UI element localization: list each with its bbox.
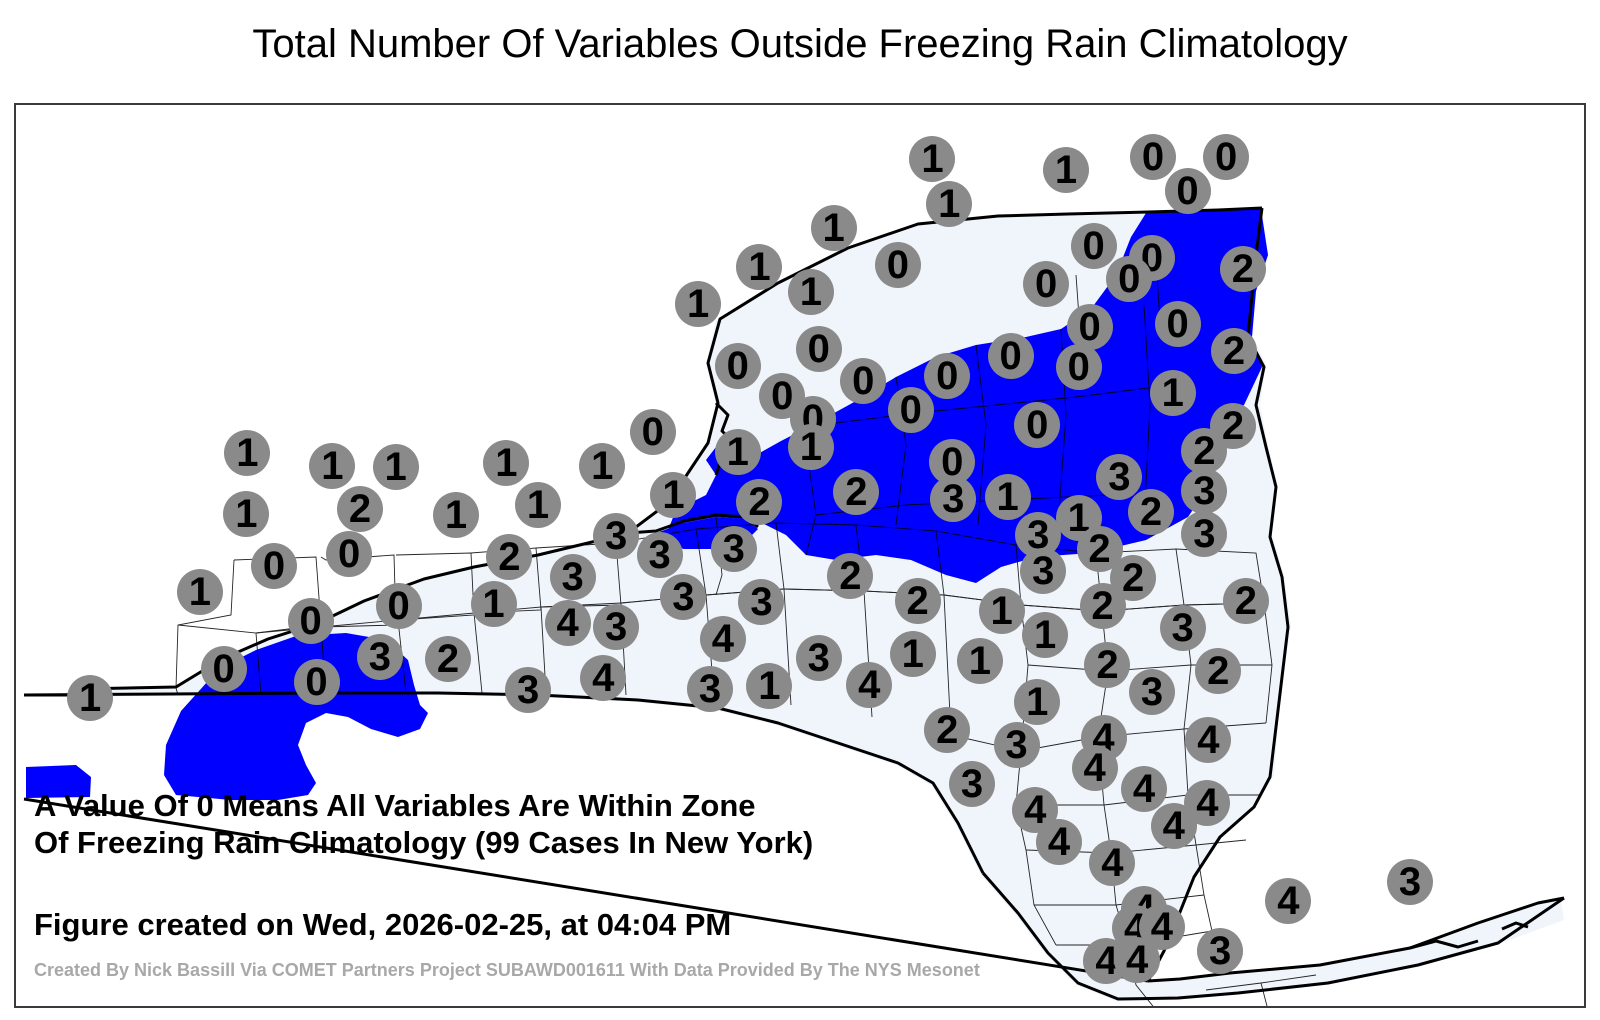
station-marker-value: 1 [890, 631, 936, 677]
station-marker: 1 [433, 492, 479, 538]
station-marker-value: 4 [1151, 803, 1197, 849]
station-marker-value: 0 [840, 358, 886, 404]
legend-note-line1: A Value Of 0 Means All Variables Are Wit… [34, 788, 756, 823]
station-marker: 0 [1056, 344, 1102, 390]
station-marker: 0 [715, 343, 761, 389]
station-marker-value: 2 [736, 479, 782, 525]
station-marker-value: 0 [326, 531, 372, 577]
station-marker-value: 1 [1043, 147, 1089, 193]
station-marker: 2 [1220, 246, 1266, 292]
station-marker-value: 3 [660, 574, 706, 620]
station-marker-value: 1 [1014, 679, 1060, 725]
station-marker-value: 2 [1220, 246, 1266, 292]
station-marker-value: 4 [1265, 878, 1311, 924]
station-marker-value: 2 [895, 578, 941, 624]
station-marker-value: 1 [650, 472, 696, 518]
legend-note: A Value Of 0 Means All Variables Are Wit… [34, 788, 813, 861]
station-marker-value: 0 [1023, 261, 1069, 307]
station-marker: 1 [926, 181, 972, 227]
station-marker-value: 1 [788, 424, 834, 470]
station-marker-value: 1 [177, 569, 223, 615]
station-marker-value: 0 [1155, 301, 1201, 347]
station-marker: 3 [1197, 928, 1243, 974]
station-marker-value: 1 [373, 444, 419, 490]
station-marker-value: 3 [949, 761, 995, 807]
station-marker: 0 [376, 583, 422, 629]
station-marker-value: 1 [746, 663, 792, 709]
station-marker: 1 [471, 581, 517, 627]
station-marker: 3 [357, 634, 403, 680]
station-marker: 3 [593, 604, 639, 650]
station-marker-value: 1 [433, 492, 479, 538]
station-marker-value: 4 [1072, 745, 1118, 791]
station-marker-value: 3 [994, 722, 1040, 768]
station-marker-value: 0 [294, 659, 340, 705]
station-marker: 0 [888, 387, 934, 433]
station-marker: 4 [580, 655, 626, 701]
station-marker-value: 3 [1181, 468, 1227, 514]
station-marker-value: 0 [630, 409, 676, 455]
station-marker: 3 [550, 554, 596, 600]
station-marker: 1 [1043, 147, 1089, 193]
station-marker-value: 1 [909, 136, 955, 182]
station-marker-value: 2 [1211, 328, 1257, 374]
station-marker: 0 [796, 326, 842, 372]
station-marker-value: 1 [67, 675, 113, 721]
station-marker-value: 0 [715, 343, 761, 389]
station-marker-value: 3 [1129, 669, 1175, 715]
station-marker-value: 2 [1195, 648, 1241, 694]
station-marker: 2 [1080, 583, 1126, 629]
station-marker: 1 [979, 588, 1025, 634]
legend-note-line2: Of Freezing Rain Climatology (99 Cases I… [34, 825, 813, 860]
station-marker: 4 [1114, 937, 1160, 983]
station-marker-value: 2 [924, 707, 970, 753]
station-marker-value: 1 [736, 244, 782, 290]
station-marker: 3 [1181, 511, 1227, 557]
station-marker: 4 [1151, 803, 1197, 849]
station-marker-value: 1 [675, 281, 721, 327]
nys-land-fill [24, 209, 1564, 1001]
station-marker: 0 [251, 543, 297, 589]
station-marker: 3 [930, 476, 976, 522]
station-marker-value: 2 [827, 553, 873, 599]
station-marker: 0 [988, 333, 1034, 379]
station-marker: 1 [746, 663, 792, 709]
station-marker: 1 [373, 444, 419, 490]
station-marker: 0 [840, 358, 886, 404]
station-marker: 4 [1089, 840, 1135, 886]
station-marker-value: 2 [1223, 578, 1269, 624]
station-marker: 2 [924, 707, 970, 753]
station-marker: 3 [660, 574, 706, 620]
page-title: Total Number Of Variables Outside Freezi… [0, 22, 1600, 67]
station-marker: 2 [1128, 489, 1174, 535]
station-marker-value: 3 [593, 513, 639, 559]
station-marker: 1 [177, 569, 223, 615]
station-marker-value: 4 [1036, 819, 1082, 865]
station-marker-value: 2 [425, 636, 471, 682]
station-marker-value: 1 [1150, 370, 1196, 416]
station-marker-value: 2 [486, 534, 532, 580]
station-marker: 2 [1084, 642, 1130, 688]
station-marker: 4 [700, 616, 746, 662]
station-marker-value: 0 [1056, 344, 1102, 390]
station-marker-value: 3 [796, 635, 842, 681]
station-marker-value: 4 [700, 616, 746, 662]
map-frame: 1100101001000211000000200010000211021111… [14, 103, 1586, 1008]
station-marker: 1 [811, 205, 857, 251]
station-marker-value: 0 [251, 543, 297, 589]
station-marker: 3 [1181, 468, 1227, 514]
station-marker: 1 [309, 443, 355, 489]
station-marker: 1 [715, 429, 761, 475]
station-marker: 4 [545, 600, 591, 646]
station-marker: 3 [1129, 669, 1175, 715]
station-marker-value: 1 [788, 269, 834, 315]
station-marker-value: 0 [796, 326, 842, 372]
station-marker: 3 [505, 667, 551, 713]
station-marker-value: 2 [337, 486, 383, 532]
station-marker-value: 1 [926, 181, 972, 227]
credit-line: Created By Nick Bassill Via COMET Partne… [34, 960, 980, 981]
station-marker-value: 1 [811, 205, 857, 251]
station-marker: 1 [1022, 612, 1068, 658]
station-marker-value: 3 [593, 604, 639, 650]
station-marker: 1 [788, 269, 834, 315]
station-marker: 4 [846, 662, 892, 708]
station-marker-value: 1 [1022, 612, 1068, 658]
station-marker: 1 [1150, 370, 1196, 416]
station-marker-value: 1 [979, 588, 1025, 634]
station-marker: 2 [1211, 328, 1257, 374]
station-marker-value: 0 [888, 387, 934, 433]
station-marker-value: 4 [1185, 717, 1231, 763]
station-marker: 2 [833, 469, 879, 515]
station-marker: 4 [1072, 745, 1118, 791]
station-marker-value: 3 [505, 667, 551, 713]
station-marker: 2 [486, 534, 532, 580]
station-marker-value: 1 [224, 430, 270, 476]
station-marker-value: 2 [1084, 642, 1130, 688]
station-marker-value: 3 [711, 526, 757, 572]
station-marker: 0 [288, 598, 334, 644]
station-marker: 0 [201, 646, 247, 692]
station-marker-value: 3 [1181, 511, 1227, 557]
station-marker: 1 [788, 424, 834, 470]
station-marker: 0 [1014, 402, 1060, 448]
station-marker: 2 [425, 636, 471, 682]
station-marker: 3 [994, 722, 1040, 768]
station-marker-value: 3 [357, 634, 403, 680]
station-marker-value: 4 [846, 662, 892, 708]
station-marker-value: 3 [1197, 928, 1243, 974]
station-marker: 2 [1223, 578, 1269, 624]
station-marker: 2 [736, 479, 782, 525]
station-marker: 4 [1185, 717, 1231, 763]
station-marker-value: 0 [1014, 402, 1060, 448]
station-marker-value: 4 [545, 600, 591, 646]
station-marker-value: 4 [580, 655, 626, 701]
station-marker-value: 1 [579, 443, 625, 489]
station-marker-value: 3 [1160, 605, 1206, 651]
station-marker-value: 4 [1089, 840, 1135, 886]
station-marker-value: 3 [1387, 859, 1433, 905]
station-marker-value: 0 [201, 646, 247, 692]
station-marker: 3 [1387, 859, 1433, 905]
station-marker: 1 [67, 675, 113, 721]
station-marker-value: 3 [930, 476, 976, 522]
station-marker: 1 [957, 638, 1003, 684]
station-marker-value: 2 [1128, 489, 1174, 535]
station-marker-value: 0 [988, 333, 1034, 379]
station-marker-value: 1 [715, 429, 761, 475]
station-marker: 4 [1265, 878, 1311, 924]
station-marker: 1 [579, 443, 625, 489]
station-marker-value: 3 [687, 666, 733, 712]
station-marker: 0 [875, 242, 921, 288]
station-marker: 1 [736, 244, 782, 290]
station-marker-value: 0 [288, 598, 334, 644]
station-marker: 3 [1020, 548, 1066, 594]
station-marker: 0 [326, 531, 372, 577]
figure-timestamp: Figure created on Wed, 2026-02-25, at 04… [34, 907, 731, 944]
station-marker-value: 3 [1020, 548, 1066, 594]
station-marker: 1 [483, 440, 529, 486]
station-marker: 3 [949, 761, 995, 807]
station-marker: 2 [895, 578, 941, 624]
station-marker: 0 [1023, 261, 1069, 307]
station-marker: 3 [687, 666, 733, 712]
station-marker: 1 [1014, 679, 1060, 725]
station-marker-value: 3 [637, 532, 683, 578]
station-marker: 0 [1155, 301, 1201, 347]
station-marker-value: 0 [376, 583, 422, 629]
station-marker: 2 [827, 553, 873, 599]
station-marker-value: 4 [1114, 937, 1160, 983]
station-marker-value: 0 [1165, 168, 1211, 214]
station-marker: 0 [1165, 168, 1211, 214]
station-marker: 3 [593, 513, 639, 559]
station-marker: 1 [515, 482, 561, 528]
station-marker: 1 [890, 631, 936, 677]
station-marker: 1 [223, 491, 269, 537]
station-marker: 3 [796, 635, 842, 681]
station-marker-value: 1 [515, 482, 561, 528]
station-marker: 2 [1195, 648, 1241, 694]
station-marker: 2 [337, 486, 383, 532]
station-marker-value: 1 [309, 443, 355, 489]
station-marker: 3 [711, 526, 757, 572]
station-marker-value: 1 [957, 638, 1003, 684]
station-marker: 1 [675, 281, 721, 327]
station-marker-value: 1 [483, 440, 529, 486]
station-marker: 0 [294, 659, 340, 705]
station-marker: 1 [909, 136, 955, 182]
station-marker-value: 2 [833, 469, 879, 515]
station-marker-value: 2 [1080, 583, 1126, 629]
station-marker-value: 3 [550, 554, 596, 600]
station-marker: 4 [1036, 819, 1082, 865]
station-marker: 3 [637, 532, 683, 578]
station-marker-value: 0 [875, 242, 921, 288]
station-marker-value: 1 [223, 491, 269, 537]
station-marker: 1 [224, 430, 270, 476]
station-marker-value: 1 [471, 581, 517, 627]
station-marker: 0 [630, 409, 676, 455]
station-marker-value: 0 [1106, 256, 1152, 302]
station-marker: 0 [1106, 256, 1152, 302]
station-marker: 3 [1160, 605, 1206, 651]
station-marker: 1 [650, 472, 696, 518]
map-land-layer [24, 209, 1564, 1001]
